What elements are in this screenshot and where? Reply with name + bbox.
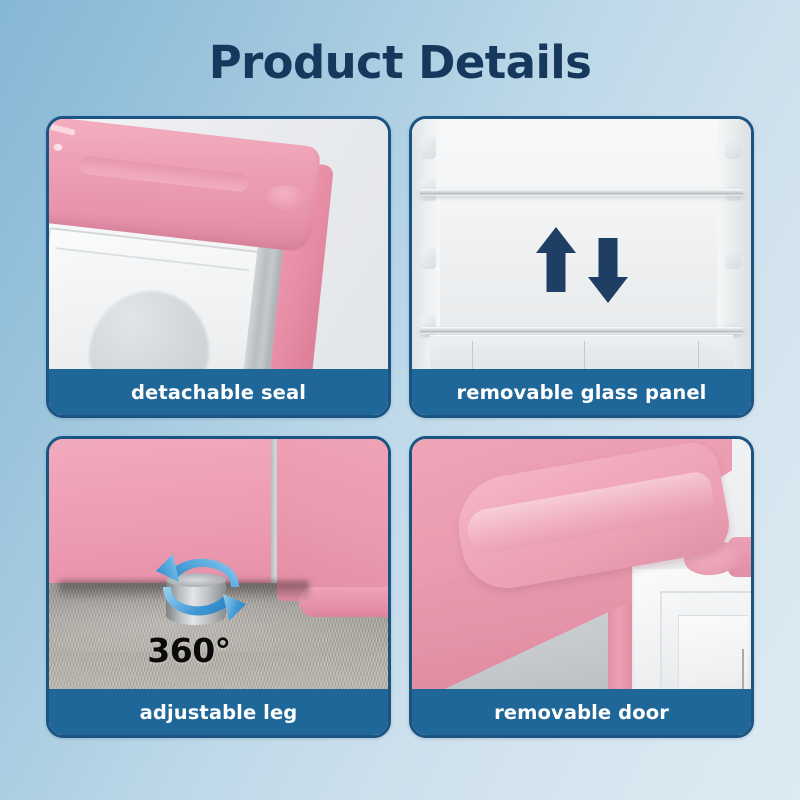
arrow-up-icon (535, 226, 577, 294)
feature-card-adjustable-leg[interactable]: 360° adjustable leg (46, 436, 391, 738)
removable-door-photo (412, 439, 751, 692)
detachable-seal-photo (49, 119, 388, 372)
caption-removable-glass-panel: removable glass panel (412, 369, 751, 415)
fridge-cabinet-recess-inner (678, 615, 748, 692)
highlight-streak (49, 122, 76, 136)
shelf-clip (725, 137, 741, 159)
drawer-seam (472, 341, 473, 372)
caption-detachable-seal: detachable seal (49, 369, 388, 415)
caption-removable-door: removable door (412, 689, 751, 735)
highlight-dot (53, 143, 63, 151)
feature-card-detachable-seal[interactable]: detachable seal (46, 116, 391, 418)
rotation-degree-badge: 360° (49, 631, 329, 670)
product-details-page: Product Details detacha (0, 0, 800, 800)
arrow-down-icon (587, 236, 629, 304)
drawer-seam (698, 341, 699, 372)
page-title: Product Details (0, 40, 800, 85)
cabinet-rod (742, 649, 744, 692)
shelf-clip (420, 247, 436, 269)
removable-glass-panel-photo (412, 119, 751, 372)
adjustable-leg-photo: 360° (49, 439, 388, 692)
glass-shelf-upper (420, 189, 743, 196)
title-bar: Product Details (0, 40, 800, 85)
shelf-adjust-arrows (535, 226, 629, 304)
fridge-base-foot (299, 587, 388, 617)
glass-shelf-lower (420, 327, 743, 334)
feature-cards-grid: detachable seal (46, 116, 754, 752)
caption-adjustable-leg: adjustable leg (49, 689, 388, 735)
feature-card-removable-glass-panel[interactable]: removable glass panel (409, 116, 754, 418)
feature-card-removable-door[interactable]: removable door (409, 436, 754, 738)
shelf-clip (420, 137, 436, 159)
drawer-seam (584, 341, 585, 372)
rotation-arrow-icon (147, 551, 255, 629)
fridge-door-pink-right (277, 439, 388, 601)
crisper-drawer (430, 335, 733, 372)
shelf-clip (725, 247, 741, 269)
